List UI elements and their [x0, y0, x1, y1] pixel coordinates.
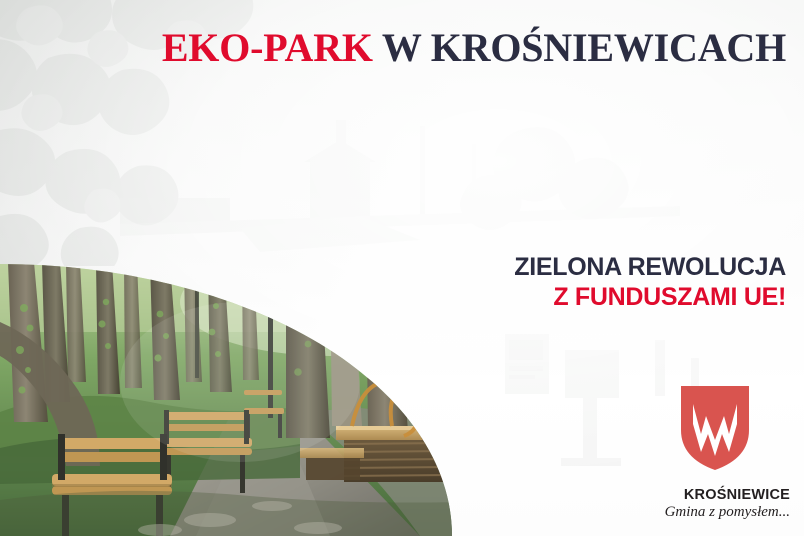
headline-eko-park: EKO-PARK [162, 25, 373, 70]
krosniewice-logo: KROŚNIEWICE Gmina z pomysłem... [640, 382, 790, 521]
logo-municipality-name: KROŚNIEWICE [640, 487, 790, 503]
krosniewice-coat-of-arms-shield-icon [677, 382, 753, 474]
poster-canvas: EKO-PARK W KROŚNIEWICACH ZIELONA REWOLUC… [0, 0, 804, 536]
park-photo-clip [0, 262, 560, 536]
poster-headline: EKO-PARK W KROŚNIEWICACH [0, 26, 786, 70]
shield-holder [640, 382, 790, 479]
logo-tagline: Gmina z pomysłem... [640, 504, 790, 521]
park-photo-illustration [0, 262, 560, 536]
headline-w-krosniewicach: W KROŚNIEWICACH [382, 25, 786, 70]
park-photo [0, 262, 560, 536]
